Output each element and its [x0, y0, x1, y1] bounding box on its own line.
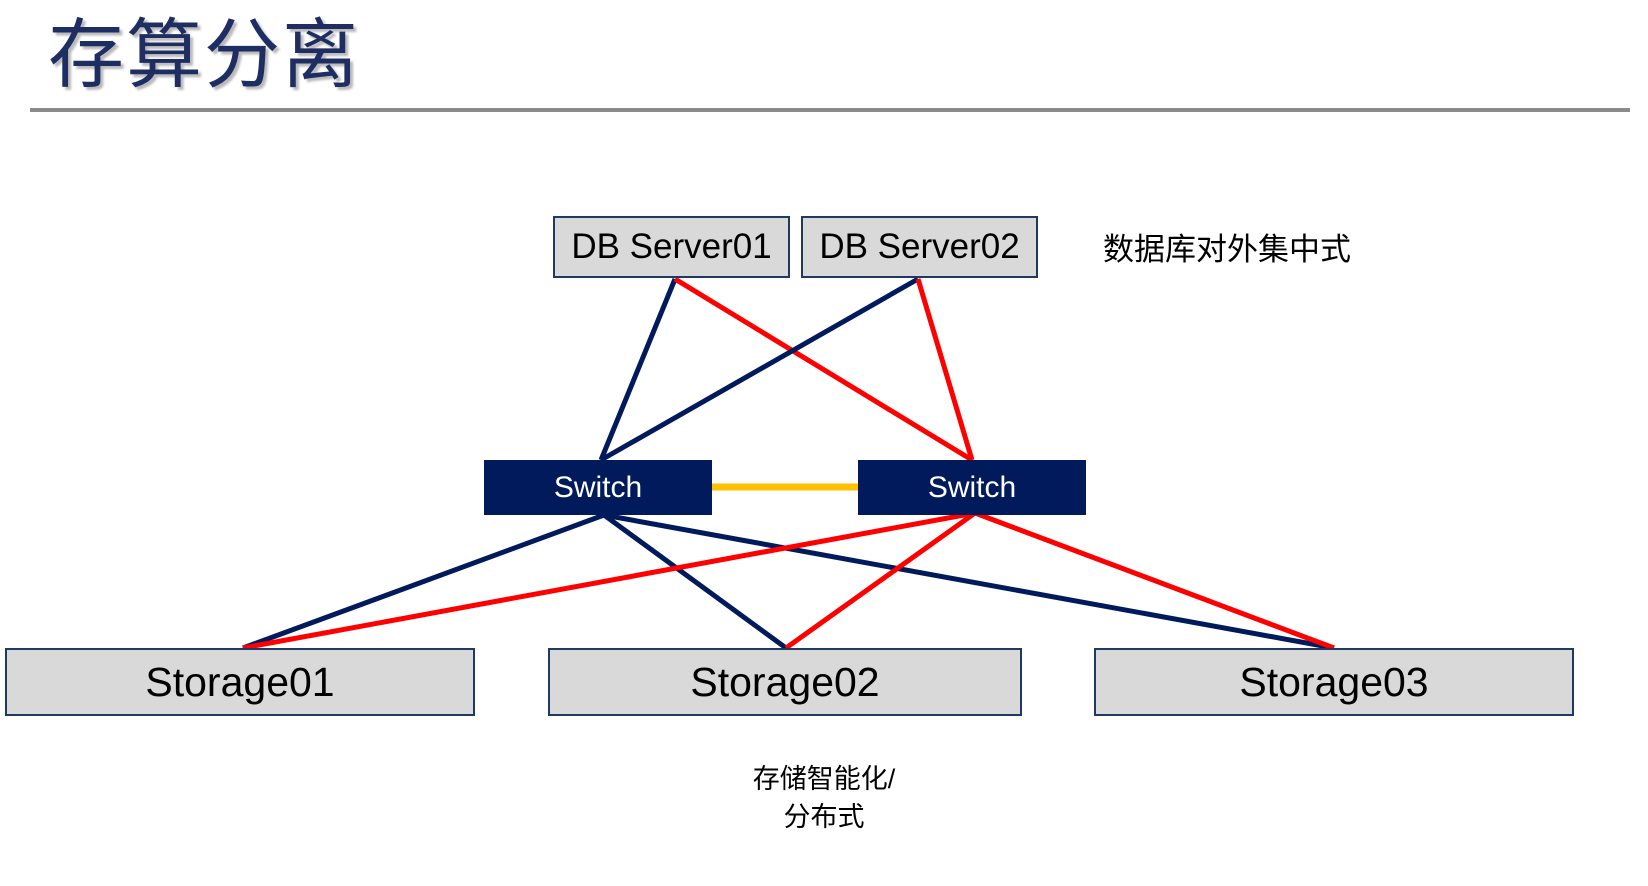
switch-node-1[interactable]: Switch	[484, 460, 712, 515]
slide-canvas: 存算分离 DB Server01DB Server02SwitchSwitchS…	[0, 0, 1648, 886]
switch02-to-storage01	[243, 513, 975, 648]
storage-node-2[interactable]: Storage02	[548, 648, 1022, 716]
annotation-storage-intelligent: 存储智能化/ 分布式	[0, 760, 1648, 836]
db-server-node-1-label: DB Server01	[571, 227, 771, 267]
storage-node-3[interactable]: Storage03	[1094, 648, 1574, 716]
db02-to-switch01	[601, 279, 918, 460]
storage-node-2-label: Storage02	[690, 659, 879, 706]
switch01-to-storage03	[604, 515, 1334, 648]
db-server-node-2-label: DB Server02	[819, 227, 1019, 267]
db01-to-switch01	[601, 279, 675, 460]
switch02-to-storage02	[786, 513, 975, 648]
connector-layer	[0, 0, 1648, 886]
switch-node-2-label: Switch	[928, 471, 1016, 505]
switch-node-1-label: Switch	[554, 471, 642, 505]
db-server-node-1[interactable]: DB Server01	[553, 216, 790, 278]
storage-node-3-label: Storage03	[1239, 659, 1428, 706]
annotation-storage-line-2: 分布式	[0, 798, 1648, 836]
db-server-node-2[interactable]: DB Server02	[801, 216, 1038, 278]
switch01-to-storage01	[243, 515, 604, 648]
connector-lines	[243, 279, 1334, 648]
switch-node-2[interactable]: Switch	[858, 460, 1086, 515]
annotation-database-centralized: 数据库对外集中式	[1103, 224, 1351, 269]
storage-node-1[interactable]: Storage01	[5, 648, 475, 716]
switch01-to-storage02	[604, 515, 786, 648]
switch02-to-storage03	[975, 513, 1334, 648]
annotation-storage-line-1: 存储智能化/	[0, 760, 1648, 798]
storage-node-1-label: Storage01	[145, 659, 334, 706]
